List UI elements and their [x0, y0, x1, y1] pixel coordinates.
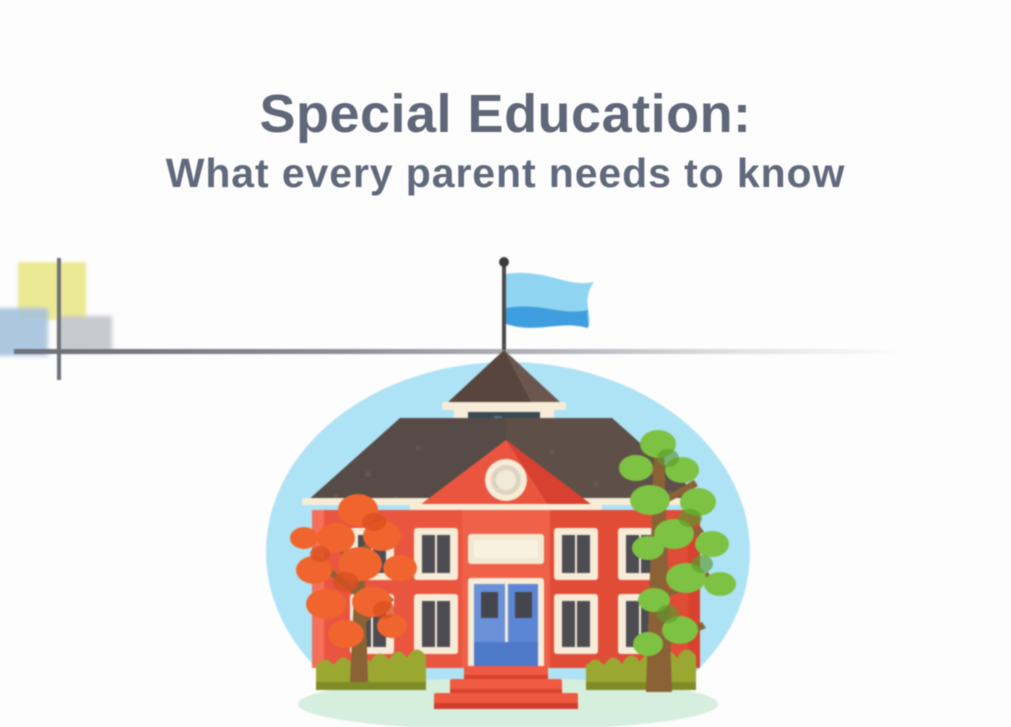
- window-mullion: [575, 535, 577, 573]
- step-middle-shade: [450, 689, 562, 693]
- flag-pole-finial: [499, 257, 509, 267]
- decor-vertical-rule: [57, 258, 61, 380]
- bush-right-shade: [586, 682, 696, 690]
- step-top-shade: [464, 675, 548, 679]
- page-title: Special Education:: [0, 84, 1011, 144]
- school-sign-inner: [474, 540, 538, 558]
- step-bottom-shade: [434, 703, 578, 709]
- slide-canvas: Special Education: What every parent nee…: [0, 0, 1011, 727]
- door-panel-shadow: [474, 642, 538, 668]
- title-block: Special Education: What every parent nee…: [0, 84, 1011, 198]
- door-window-right: [515, 592, 532, 618]
- window-mullion: [435, 601, 437, 647]
- decor-gray-square: [58, 316, 112, 352]
- door-window-left: [481, 592, 498, 618]
- schoolhouse-graphic: [250, 252, 770, 727]
- page-subtitle: What every parent needs to know: [0, 150, 1011, 197]
- bush-left-shade: [316, 682, 426, 690]
- schoolhouse-illustration: [250, 252, 770, 727]
- window-mullion: [435, 535, 437, 573]
- window-mullion: [575, 601, 577, 647]
- flag-pole: [502, 262, 506, 350]
- pediment-clock-face: [496, 470, 516, 490]
